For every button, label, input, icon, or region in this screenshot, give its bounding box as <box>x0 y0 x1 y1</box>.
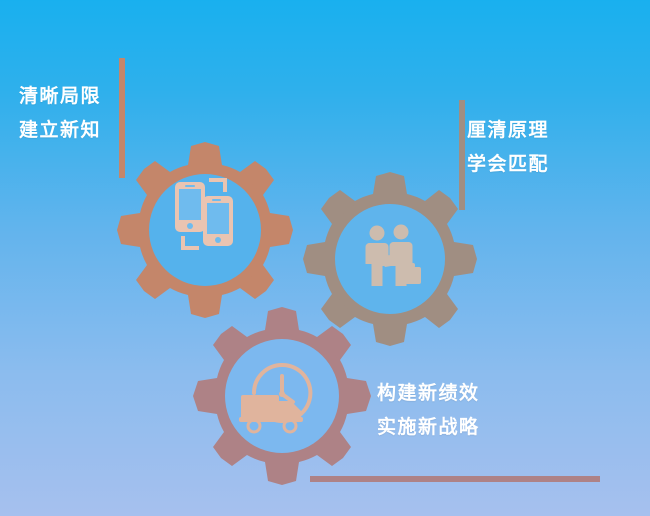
label-strategy: 构建新绩效 实施新战略 <box>377 376 480 444</box>
label-clarify-line2: 建立新知 <box>19 113 101 147</box>
label-strategy-line2: 实施新战略 <box>377 410 480 444</box>
label-principle-line1: 厘清原理 <box>467 113 549 147</box>
label-principle: 厘清原理 学会匹配 <box>467 113 549 181</box>
infographic-canvas: 清晰局限 建立新知 厘清原理 学会匹配 构建新绩效 实施新战略 <box>0 0 650 516</box>
label-clarify: 清晰局限 建立新知 <box>19 79 101 147</box>
label-clarify-line1: 清晰局限 <box>19 79 101 113</box>
label-principle-line2: 学会匹配 <box>467 147 549 181</box>
gear-connectivity[interactable] <box>113 138 297 322</box>
gear-delivery[interactable] <box>189 303 375 489</box>
two-smartphones-sync-icon <box>175 178 233 250</box>
label-strategy-line1: 构建新绩效 <box>377 376 480 410</box>
